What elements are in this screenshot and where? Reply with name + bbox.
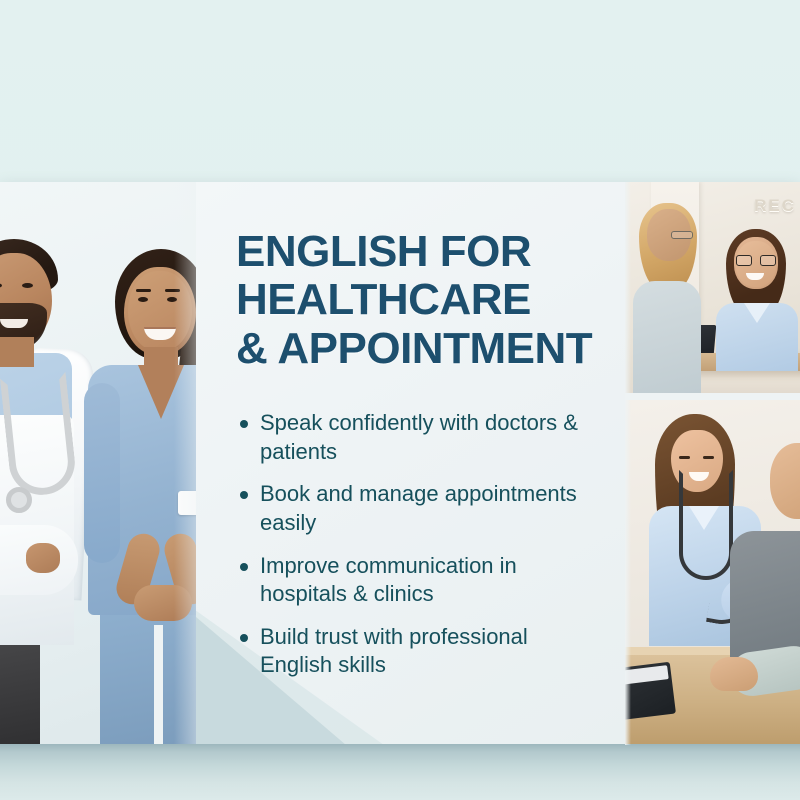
- benefits-list: Speak confidently with doctors & patient…: [236, 409, 593, 680]
- receptionist-glasses-icon: [736, 255, 776, 266]
- title-line-2: HEALTHCARE: [236, 276, 593, 324]
- patient-top: [633, 281, 701, 393]
- card-drop-shadow: [0, 744, 800, 800]
- exam-nurse-eye-left: [679, 456, 690, 459]
- title-line-3: & APPOINTMENT: [236, 325, 593, 373]
- photo-column-edge-fade: [625, 182, 631, 745]
- nurse-eye-left: [138, 297, 148, 302]
- doctor-neck: [0, 337, 34, 367]
- stethoscope-bell-icon: [6, 487, 32, 513]
- list-item: Build trust with professional English sk…: [236, 623, 593, 680]
- exam-patient-body: [730, 531, 800, 663]
- nurse-arm-left: [84, 383, 120, 563]
- glasses-lens-right: [760, 255, 776, 266]
- list-item: Improve communication in hospitals & cli…: [236, 552, 593, 609]
- photo-column-right: REC: [625, 182, 800, 745]
- doctor-eye-right: [22, 283, 33, 288]
- text-panel: ENGLISH FOR HEALTHCARE & APPOINTMENT Spe…: [196, 182, 625, 745]
- patient-glasses-icon: [671, 231, 693, 239]
- nurse-brow-left: [136, 289, 151, 292]
- reception-patient-figure: [631, 203, 703, 393]
- list-item: Book and manage appointments easily: [236, 480, 593, 537]
- photo-reception-desk: REC: [625, 182, 800, 393]
- reception-sign-text: REC: [754, 196, 796, 216]
- doctor-hand-right: [26, 543, 60, 573]
- exam-nurse-eye-right: [703, 456, 714, 459]
- exam-patient-hand: [710, 657, 758, 691]
- photo-examination: [625, 400, 800, 745]
- photo-divider: [625, 393, 800, 400]
- receptionist-figure: [716, 229, 798, 371]
- exam-patient-figure: [714, 443, 800, 693]
- exam-tablet-device: [625, 662, 676, 720]
- list-item: Speak confidently with doctors & patient…: [236, 409, 593, 466]
- page-title: ENGLISH FOR HEALTHCARE & APPOINTMENT: [236, 228, 593, 373]
- exam-patient-head: [770, 443, 800, 519]
- title-line-1: ENGLISH FOR: [236, 228, 593, 276]
- glasses-lens-left: [736, 255, 752, 266]
- banner-card: ENGLISH FOR HEALTHCARE & APPOINTMENT Spe…: [0, 182, 800, 745]
- nurse-leg-gap: [154, 625, 163, 745]
